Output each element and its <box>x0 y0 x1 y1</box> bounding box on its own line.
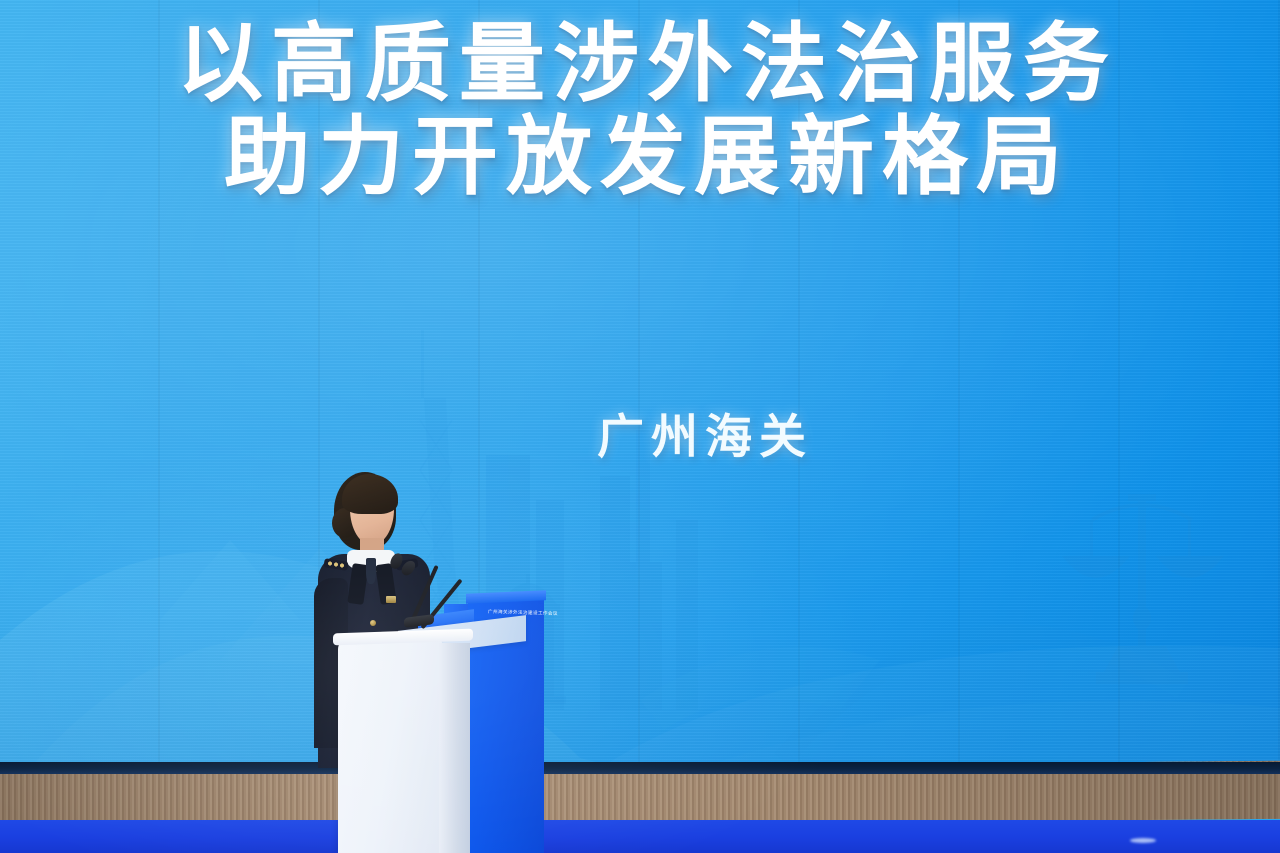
floor-reflection-glint <box>1130 838 1156 843</box>
speaker-hair-front <box>342 474 398 514</box>
conference-photo-scene: 以高质量涉外法治服务 助力开放发展新格局 广州海关 广州海关涉外法治建设工作会议 <box>0 0 1280 853</box>
bridge-arch-silhouette <box>782 634 1280 762</box>
stage-floor <box>0 820 1280 853</box>
slide-title-line-1: 以高质量涉外法治服务 <box>0 18 1280 111</box>
slide-subtitle: 广州海关 <box>597 398 813 467</box>
slide-subtitle-block: 广州海关 <box>0 398 1280 467</box>
speaker-necktie <box>366 558 376 584</box>
slide-title-line-2: 助力开放发展新格局 <box>0 111 1280 204</box>
wave-ribbon-shapes-right <box>600 646 1280 769</box>
podium-front-face <box>338 640 442 853</box>
uniform-badge-icon <box>386 596 396 603</box>
slide-title-block: 以高质量涉外法治服务 助力开放发展新格局 <box>0 18 1280 204</box>
uniform-button <box>370 620 376 626</box>
podium <box>338 640 470 853</box>
screen-bottom-edge <box>0 762 1280 774</box>
podium-side-face <box>439 643 470 853</box>
scales-of-justice-silhouette <box>1062 494 1224 684</box>
